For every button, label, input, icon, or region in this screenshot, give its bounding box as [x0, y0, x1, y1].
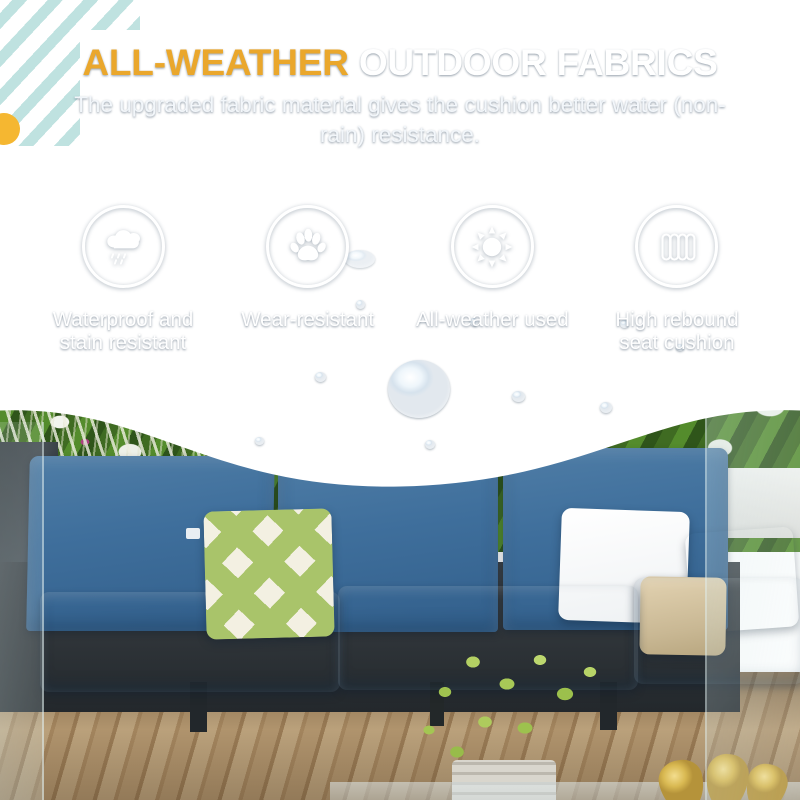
lifestyle-photo	[0, 382, 800, 800]
sun-icon	[451, 205, 534, 288]
cushion-tag	[186, 528, 200, 539]
paw-print-icon	[266, 205, 349, 288]
subtitle: The upgraded fabric material gives the c…	[52, 90, 748, 150]
feature-item-waterproof: Waterproof and stain resistant	[32, 205, 214, 355]
feature-label: Waterproof and stain resistant	[53, 309, 194, 355]
feature-label: Wear-resistant	[241, 309, 374, 332]
headline-accent: ALL-WEATHER	[82, 42, 348, 83]
cushion-layers-icon	[635, 205, 718, 288]
glass-pane-left	[0, 422, 44, 800]
feature-item-all-weather: All-weather used	[401, 205, 583, 332]
rain-cloud-icon	[82, 205, 165, 288]
green-diamond-pillow	[203, 508, 334, 639]
headline-rest: OUTDOOR FABRICS	[349, 42, 718, 83]
promo-banner: ALL-WEATHER OUTDOOR FABRICS The upgraded…	[0, 0, 800, 800]
feature-label: High rebound seat cushion	[615, 309, 738, 355]
feature-list: Waterproof and stain resistant Wear-resi…	[18, 205, 782, 355]
feature-item-high-rebound: High rebound seat cushion	[586, 205, 768, 355]
page-title: ALL-WEATHER OUTDOOR FABRICS	[0, 44, 800, 81]
feature-label: All-weather used	[416, 309, 569, 332]
feature-item-wear-resistant: Wear-resistant	[217, 205, 399, 332]
glass-pane-right	[705, 382, 800, 800]
